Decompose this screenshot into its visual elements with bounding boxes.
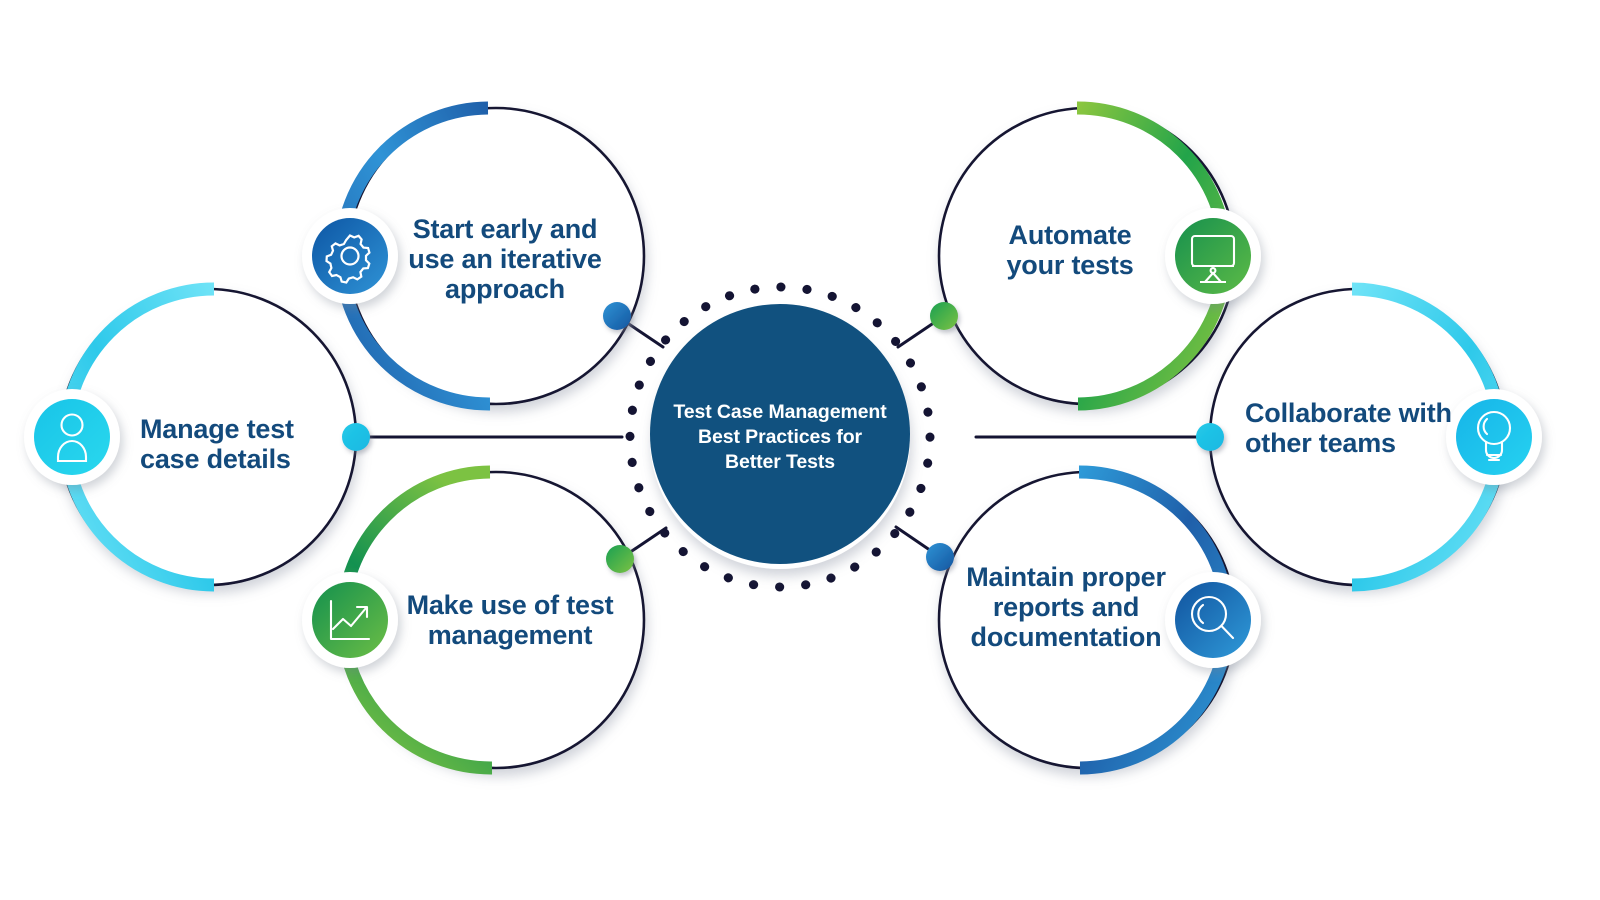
infographic-canvas: Manage test case details Start early and… — [0, 0, 1600, 900]
node-label-automate-your-tests: Automate your tests — [960, 220, 1180, 280]
connector-dot-maintain — [926, 543, 954, 571]
node-label-collaborate-with-other-teams: Collaborate with other teams — [1245, 398, 1465, 458]
connector-dot-start — [603, 302, 631, 330]
connector-dot-make — [606, 545, 634, 573]
center-title: Test Case Management Best Practices for … — [645, 400, 915, 475]
connector-dot-manage — [342, 423, 370, 451]
icon-bg-manage — [34, 399, 110, 475]
icon-bg-start — [312, 218, 388, 294]
node-label-manage-test-case-details: Manage test case details — [140, 414, 340, 474]
icon-bg-collaborate — [1456, 399, 1532, 475]
node-label-maintain-proper-reports-documentation: Maintain proper reports and documentatio… — [955, 562, 1177, 653]
node-label-make-use-of-test-management: Make use of test management — [404, 590, 616, 650]
icon-bg-make — [312, 582, 388, 658]
node-label-start-early-iterative-approach: Start early and use an iterative approac… — [400, 214, 610, 305]
connector-dot-collaborate — [1196, 423, 1224, 451]
connector-dot-automate — [930, 302, 958, 330]
icon-bg-maintain — [1175, 582, 1251, 658]
